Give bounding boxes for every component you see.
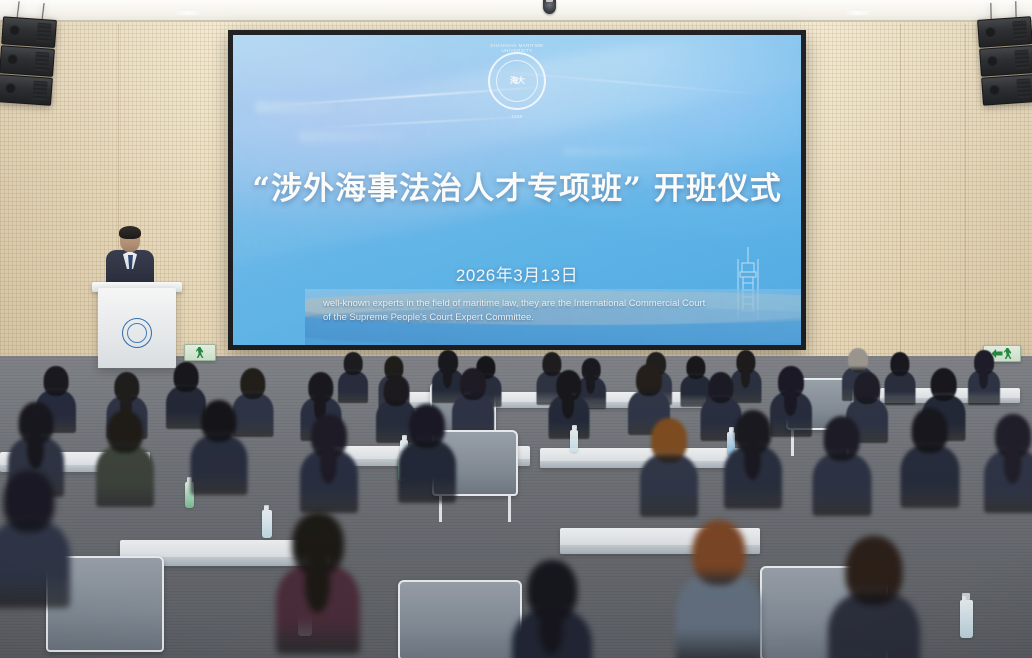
water-bottle (262, 510, 272, 538)
audience-head (636, 364, 662, 396)
audience-member (96, 410, 154, 503)
speaker-module (977, 16, 1032, 48)
audience-torso (900, 445, 959, 509)
chair-back (398, 580, 522, 658)
slide-title: “涉外海事法治人才专项班” 开班仪式 (233, 163, 801, 208)
audience-member (512, 560, 592, 658)
line-array-speaker-left (0, 16, 55, 106)
audience-ponytail (27, 432, 44, 469)
presenter-hair (119, 226, 141, 239)
speaker-module (981, 74, 1032, 106)
audience-head (848, 348, 868, 372)
audience-head (460, 368, 486, 400)
audience-member (452, 368, 494, 436)
slide-date: 2026年3月13日 (233, 261, 801, 286)
speaker-module (979, 45, 1032, 77)
audience-member (884, 352, 915, 403)
running-man-icon (1004, 348, 1013, 359)
audience-member (724, 410, 782, 505)
audience-member (984, 414, 1032, 509)
audience-member (276, 512, 360, 649)
slide-caption-band: well-known experts in the field of marit… (305, 289, 801, 345)
projection-screen: SHANGHAI MARITIME UNIVERSITY 海大 1909 “涉外… (233, 35, 801, 345)
audience-torso (338, 371, 368, 404)
audience-ponytail (305, 557, 330, 613)
ceiling-light-left (175, 11, 201, 15)
audience-torso (812, 453, 871, 517)
speaker-module (0, 74, 53, 106)
exit-sign-left (184, 344, 216, 361)
audience-member (676, 520, 762, 658)
lectern (98, 288, 176, 368)
audience-head (823, 416, 860, 461)
audience-head (911, 408, 948, 453)
ceiling-camera-icon (543, 0, 556, 14)
audience-member (900, 408, 959, 505)
university-seal-emblem: SHANGHAI MARITIME UNIVERSITY 海大 1909 (488, 52, 546, 110)
audience-member (338, 352, 368, 401)
audience-head (845, 536, 902, 605)
slide-caption: well-known experts in the field of marit… (323, 297, 787, 325)
audience-member (300, 414, 358, 509)
audience-member (548, 370, 589, 437)
audience-member (968, 350, 1000, 403)
seal-center-glyph: 海大 (510, 77, 524, 85)
screen-highlight (563, 147, 683, 157)
audience-head (890, 352, 909, 376)
audience-member (640, 418, 698, 513)
audience-head (44, 366, 69, 396)
audience-head (107, 410, 143, 453)
audience-head (201, 400, 236, 442)
water-bottle (960, 600, 973, 638)
screen-highlight (299, 131, 403, 142)
speaker-module (1, 16, 57, 48)
audience-head (708, 372, 733, 403)
audience-head (174, 362, 199, 392)
audience-member (812, 416, 871, 513)
audience-torso (398, 440, 456, 503)
audience-head (4, 470, 55, 532)
audience-ponytail (1004, 445, 1021, 484)
wall-seam (900, 24, 901, 360)
projection-screen-frame: SHANGHAI MARITIME UNIVERSITY 海大 1909 “涉外… (228, 30, 806, 350)
seal-arc-bottom: 1909 (490, 114, 544, 119)
audience-head (651, 418, 687, 462)
wall-seam (965, 24, 966, 360)
conference-hall-photo: SHANGHAI MARITIME UNIVERSITY 海大 1909 “涉外… (0, 0, 1032, 658)
podium-seal-icon (122, 318, 152, 348)
audience-ponytail (320, 445, 337, 484)
audience-torso (96, 445, 154, 506)
audience-member (398, 404, 456, 499)
audience-head (409, 404, 445, 448)
empty-chair (398, 580, 522, 658)
audience-head (930, 368, 957, 401)
line-array-speaker-right (977, 16, 1032, 106)
slide-caption-line-1: well-known experts in the field of marit… (323, 297, 787, 311)
audience-torso (884, 371, 915, 405)
seal-inner-ring: 海大 (496, 60, 538, 102)
audience-member (190, 400, 247, 491)
audience-torso (190, 435, 247, 495)
ceiling-light-right (845, 11, 871, 15)
audience-head (240, 368, 265, 399)
audience-head (854, 372, 880, 404)
audience-torso (676, 573, 762, 658)
audience-torso (640, 454, 698, 517)
water-bottle (570, 430, 578, 452)
screen-highlight (255, 101, 335, 113)
audience-member (828, 536, 920, 658)
speaker-module (0, 45, 55, 77)
audience-ponytail (784, 388, 797, 416)
audience-head (384, 376, 409, 406)
audience-ponytail (741, 367, 750, 388)
slide-caption-line-2: of the Supreme People's Court Expert Com… (323, 311, 787, 325)
audience-head (344, 352, 363, 375)
audience-member (0, 470, 70, 603)
running-man-icon (196, 347, 205, 358)
audience-torso (0, 520, 70, 608)
seal-arc-top: SHANGHAI MARITIME UNIVERSITY (490, 43, 544, 53)
audience-head (692, 520, 745, 585)
audience-ponytail (744, 441, 761, 480)
